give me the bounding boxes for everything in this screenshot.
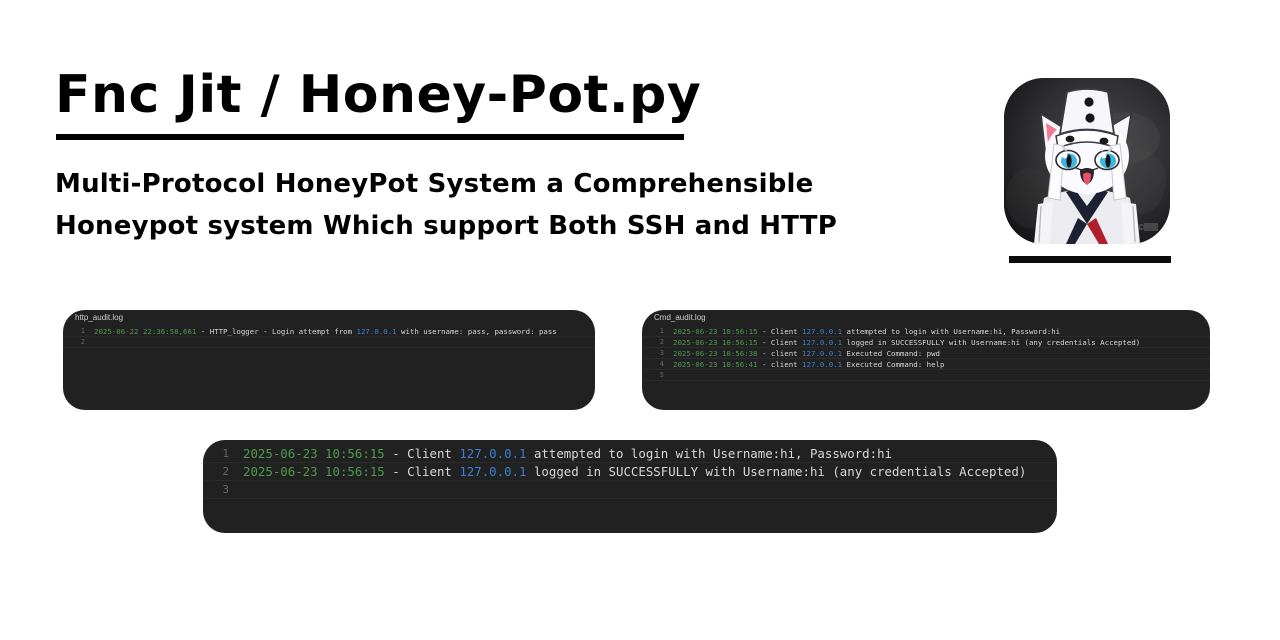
avatar-underline: [1009, 256, 1171, 263]
log-segment-green: 2025-06-23 10:56:15: [243, 464, 392, 479]
log-line-text: 2025-06-23 10:56:41 - client 127.0.0.1 E…: [673, 360, 944, 369]
log-line-text: 2025-06-23 10:56:15 - Client 127.0.0.1 l…: [243, 464, 1026, 479]
log-tab-label: http_audit.log: [75, 313, 123, 322]
line-number: 3: [642, 349, 673, 357]
log-segment-plain: - Client: [762, 338, 802, 347]
log-segment-blue: 127.0.0.1: [802, 338, 842, 347]
log-segment-blue: 127.0.0.1: [459, 464, 526, 479]
subtitle-line-1: Multi-Protocol HoneyPot System a Compreh…: [55, 163, 935, 205]
line-number: 2: [63, 338, 94, 346]
header: Fnc Jit / Honey-Pot.py Multi-Protocol Ho…: [0, 0, 1280, 280]
log-segment-green: 2025-06-22 22:36:58,661: [94, 327, 201, 336]
log-segment-plain: - Client: [392, 464, 459, 479]
log-line-text: 2025-06-23 10:56:15 - Client 127.0.0.1 a…: [673, 327, 1060, 336]
log-row[interactable]: 2: [63, 337, 595, 348]
log-segment-plain: - Client: [392, 446, 459, 461]
log-line-text: 2025-06-23 10:56:15 - Client 127.0.0.1 l…: [673, 338, 1140, 347]
log-panel-ssh-audit[interactable]: ssh_audit.log 12025-06-23 10:56:15 - Cli…: [203, 440, 1057, 533]
line-number: 2: [642, 338, 673, 346]
log-segment-blue: 127.0.0.1: [802, 349, 842, 358]
title-underline: [56, 134, 684, 140]
log-segment-plain: Executed Command: help: [842, 360, 944, 369]
log-row[interactable]: 12025-06-23 10:56:15 - Client 127.0.0.1 …: [203, 445, 1057, 463]
log-row[interactable]: 32025-06-23 10:56:38 - client 127.0.0.1 …: [642, 348, 1210, 359]
log-segment-blue: 127.0.0.1: [802, 327, 842, 336]
log-row[interactable]: 3: [203, 481, 1057, 499]
log-segment-plain: Executed Command: pwd: [842, 349, 940, 358]
log-segment-green: 2025-06-23 10:56:15: [243, 446, 392, 461]
subtitle-line-2: Honeypot system Which support Both SSH a…: [55, 205, 935, 247]
log-line-text: 2025-06-22 22:36:58,661 - HTTP_logger - …: [94, 327, 557, 336]
log-segment-plain: logged in SUCCESSFULLY with Username:hi …: [526, 464, 1026, 479]
line-number: 1: [63, 327, 94, 335]
log-row[interactable]: 5: [642, 370, 1210, 381]
avatar-illustration: ©: [1004, 78, 1170, 244]
log-segment-green: 2025-06-23 10:56:15: [673, 338, 762, 347]
log-segment-plain: logged in SUCCESSFULLY with Username:hi …: [842, 338, 1140, 347]
log-segment-blue: 127.0.0.1: [459, 446, 526, 461]
log-segment-plain: - Client: [762, 327, 802, 336]
line-number: 5: [642, 371, 673, 379]
log-segment-blue: 127.0.0.1: [357, 327, 397, 336]
log-row[interactable]: 42025-06-23 10:56:41 - client 127.0.0.1 …: [642, 359, 1210, 370]
avatar: ©: [1004, 78, 1170, 244]
line-number: 4: [642, 360, 673, 368]
log-segment-green: 2025-06-23 10:56:15: [673, 327, 762, 336]
svg-text:©: ©: [1137, 223, 1145, 232]
log-line-list: 12025-06-23 10:56:15 - Client 127.0.0.1 …: [642, 326, 1210, 381]
page-subtitle: Multi-Protocol HoneyPot System a Compreh…: [55, 163, 935, 248]
log-segment-plain: attempted to login with Username:hi, Pas…: [842, 327, 1060, 336]
avatar-container: ©: [1004, 78, 1170, 264]
line-number: 1: [203, 447, 243, 460]
log-segment-green: 2025-06-23 10:56:41: [673, 360, 762, 369]
log-row[interactable]: 12025-06-22 22:36:58,661 - HTTP_logger -…: [63, 326, 595, 337]
log-segment-plain: with username: pass, password: pass: [397, 327, 557, 336]
log-line-text: 2025-06-23 10:56:15 - Client 127.0.0.1 a…: [243, 446, 892, 461]
line-number: 3: [203, 483, 243, 496]
log-row[interactable]: 12025-06-23 10:56:15 - Client 127.0.0.1 …: [642, 326, 1210, 337]
log-panel-cmd-audit[interactable]: Cmd_audit.log 12025-06-23 10:56:15 - Cli…: [642, 310, 1210, 410]
log-line-text: 2025-06-23 10:56:38 - client 127.0.0.1 E…: [673, 349, 940, 358]
page-title: Fnc Jit / Honey-Pot.py: [55, 68, 701, 123]
line-number: 2: [203, 465, 243, 478]
log-segment-plain: - client: [762, 360, 802, 369]
line-number: 1: [642, 327, 673, 335]
log-segment-plain: attempted to login with Username:hi, Pas…: [526, 446, 892, 461]
log-line-list: 12025-06-22 22:36:58,661 - HTTP_logger -…: [63, 326, 595, 348]
log-line-list: 12025-06-23 10:56:15 - Client 127.0.0.1 …: [203, 445, 1057, 499]
log-panel-http-audit[interactable]: http_audit.log 12025-06-22 22:36:58,661 …: [63, 310, 595, 410]
log-row[interactable]: 22025-06-23 10:56:15 - Client 127.0.0.1 …: [642, 337, 1210, 348]
log-segment-green: 2025-06-23 10:56:38: [673, 349, 762, 358]
log-row[interactable]: 22025-06-23 10:56:15 - Client 127.0.0.1 …: [203, 463, 1057, 481]
log-segment-plain: - HTTP_logger - Login attempt from: [201, 327, 357, 336]
log-tab-label: Cmd_audit.log: [654, 313, 706, 322]
log-segment-plain: - client: [762, 349, 802, 358]
log-segment-blue: 127.0.0.1: [802, 360, 842, 369]
